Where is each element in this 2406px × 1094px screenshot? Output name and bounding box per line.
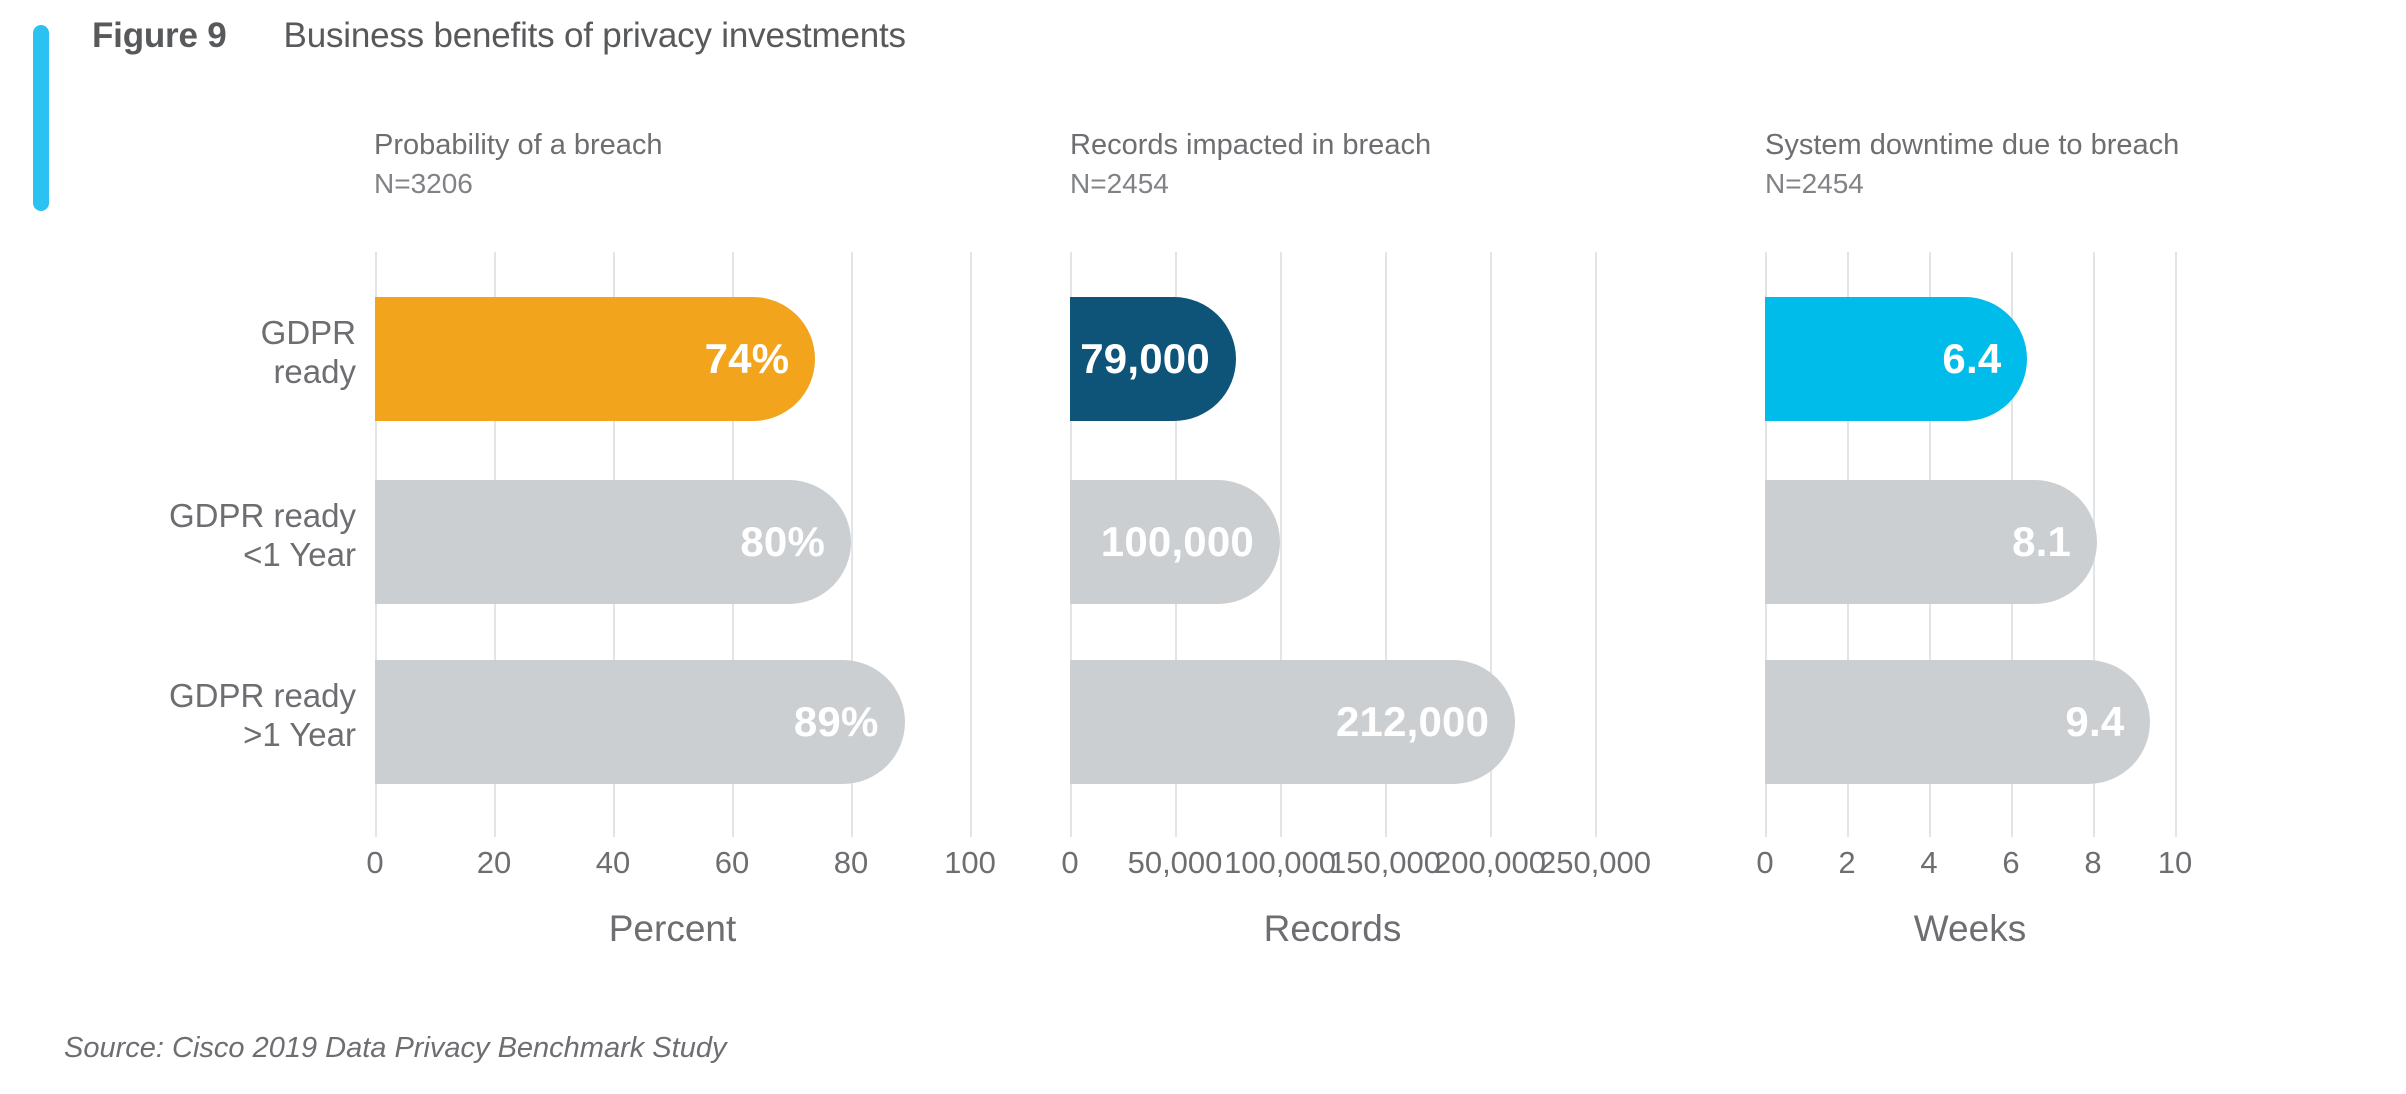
x-axis-ticks: 0246810 xyxy=(0,845,2406,891)
bar-track: 9.4 xyxy=(1765,660,2150,784)
panel-title: System downtime due to breach xyxy=(1765,128,2179,162)
panel-title: Probability of a breach xyxy=(374,128,663,162)
bar-value-label: 8.1 xyxy=(2012,518,2071,566)
panel-title: Records impacted in breach xyxy=(1070,128,1431,162)
x-axis-tick-label: 6 xyxy=(2002,845,2019,881)
bar-track: 8.1 xyxy=(1765,480,2097,604)
panel-heading: System downtime due to breachN=2454 xyxy=(1765,128,2179,200)
bar[interactable]: 8.1 xyxy=(1765,480,2097,604)
figure-number: Figure 9 xyxy=(92,16,227,56)
bar[interactable]: 6.4 xyxy=(1765,297,2027,421)
gridline xyxy=(2175,252,2177,837)
figure-title-row: Figure 9 Business benefits of privacy in… xyxy=(92,16,906,56)
bar-track: 6.4 xyxy=(1765,297,2027,421)
bar-value-label: 6.4 xyxy=(1942,335,2001,383)
panel-heading: Probability of a breachN=3206 xyxy=(374,128,663,200)
accent-bar-icon xyxy=(33,25,49,211)
page-title: Business benefits of privacy investments xyxy=(284,16,906,56)
bar-value-label: 9.4 xyxy=(2065,698,2124,746)
x-axis-tick-label: 4 xyxy=(1920,845,1937,881)
x-axis-title: Weeks xyxy=(1914,908,2026,950)
bar[interactable]: 9.4 xyxy=(1765,660,2150,784)
plot-area: 6.48.19.4 xyxy=(0,252,2406,837)
x-axis-title: Percent xyxy=(609,908,737,950)
panel-sample-size: N=2454 xyxy=(1070,167,1431,200)
panel-heading: Records impacted in breachN=2454 xyxy=(1070,128,1431,200)
source-note: Source: Cisco 2019 Data Privacy Benchmar… xyxy=(64,1032,726,1065)
x-axis-tick-label: 10 xyxy=(2158,845,2192,881)
x-axis-tick-label: 8 xyxy=(2084,845,2101,881)
x-axis-tick-label: 0 xyxy=(1756,845,1773,881)
panel-sample-size: N=3206 xyxy=(374,167,663,200)
panel-sample-size: N=2454 xyxy=(1765,167,2179,200)
x-axis-title: Records xyxy=(1264,908,1402,950)
x-axis-tick-label: 2 xyxy=(1838,845,1855,881)
